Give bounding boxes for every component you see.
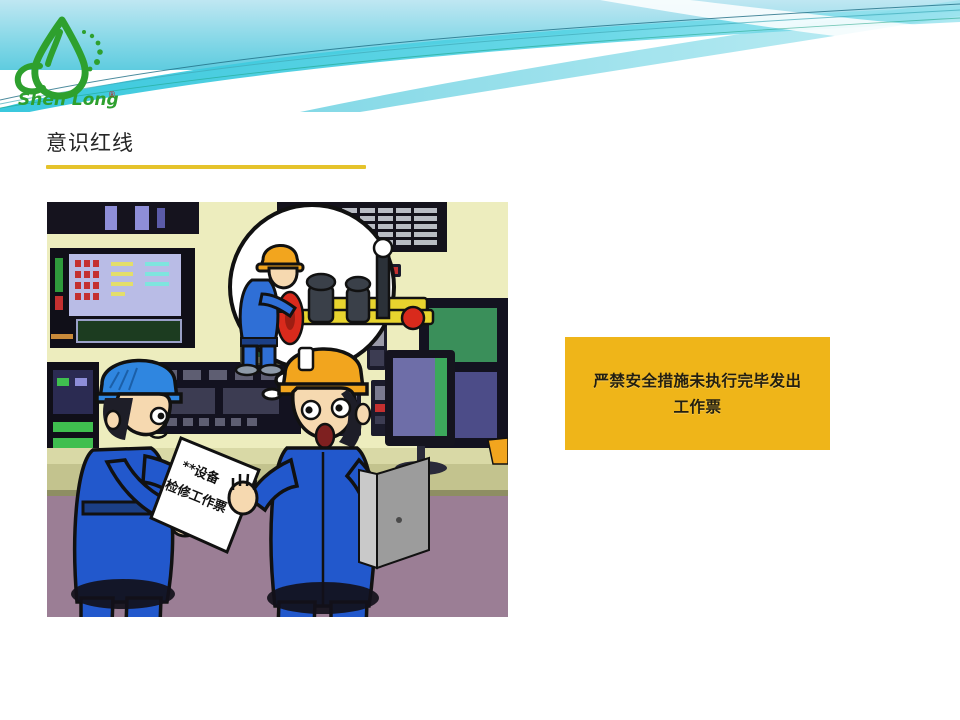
warning-callout-line-1: 严禁安全措施未执行完毕发出	[593, 368, 801, 394]
warning-callout-text: 严禁安全措施未执行完毕发出 工作票	[593, 368, 801, 420]
page-title: 意识红线	[46, 130, 466, 156]
title-underline-rule	[46, 165, 366, 169]
page-title-block: 意识红线	[46, 130, 466, 169]
water-drop-leaf-icon	[18, 20, 85, 96]
brand-wordmark: Shen Long	[18, 90, 119, 110]
warning-callout-box: 严禁安全措施未执行完毕发出 工作票	[565, 337, 830, 450]
foreground-cabinet	[359, 458, 429, 568]
trademark-icon: ®	[108, 90, 116, 99]
warning-callout-line-2: 工作票	[593, 394, 801, 420]
control-room-illustration: **设备 检修工作票	[47, 202, 508, 617]
brand-logo: Shen Long ®	[10, 14, 120, 106]
header-banner	[0, 0, 960, 112]
slide-canvas: Shen Long ® 意识红线	[0, 0, 960, 720]
